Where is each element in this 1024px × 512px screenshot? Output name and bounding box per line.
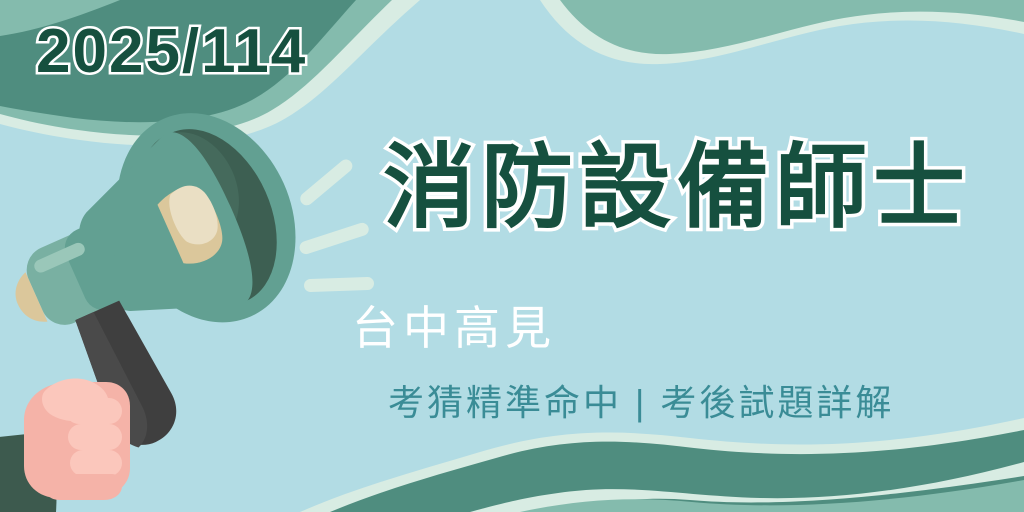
finger-3 <box>70 450 122 476</box>
sparkle-line-3 <box>304 277 374 292</box>
finger-1 <box>66 398 122 424</box>
promo-banner: 2025/114 消防設備師士 台中高見 考猜精準命中 | 考後試題詳解 <box>0 0 1024 512</box>
year-label: 2025/114 <box>36 18 307 86</box>
sparkle-line-2 <box>298 221 370 256</box>
finger-2 <box>68 424 122 450</box>
page-title: 消防設備師士 <box>383 140 971 237</box>
sparkle-lines-group <box>298 157 375 292</box>
sparkle-line-1 <box>298 157 355 208</box>
hand-group <box>24 378 130 500</box>
finger-4 <box>44 474 122 500</box>
branch-name: 台中高見 <box>352 303 556 354</box>
tagline: 考猜精準命中 | 考後試題詳解 <box>388 383 894 423</box>
